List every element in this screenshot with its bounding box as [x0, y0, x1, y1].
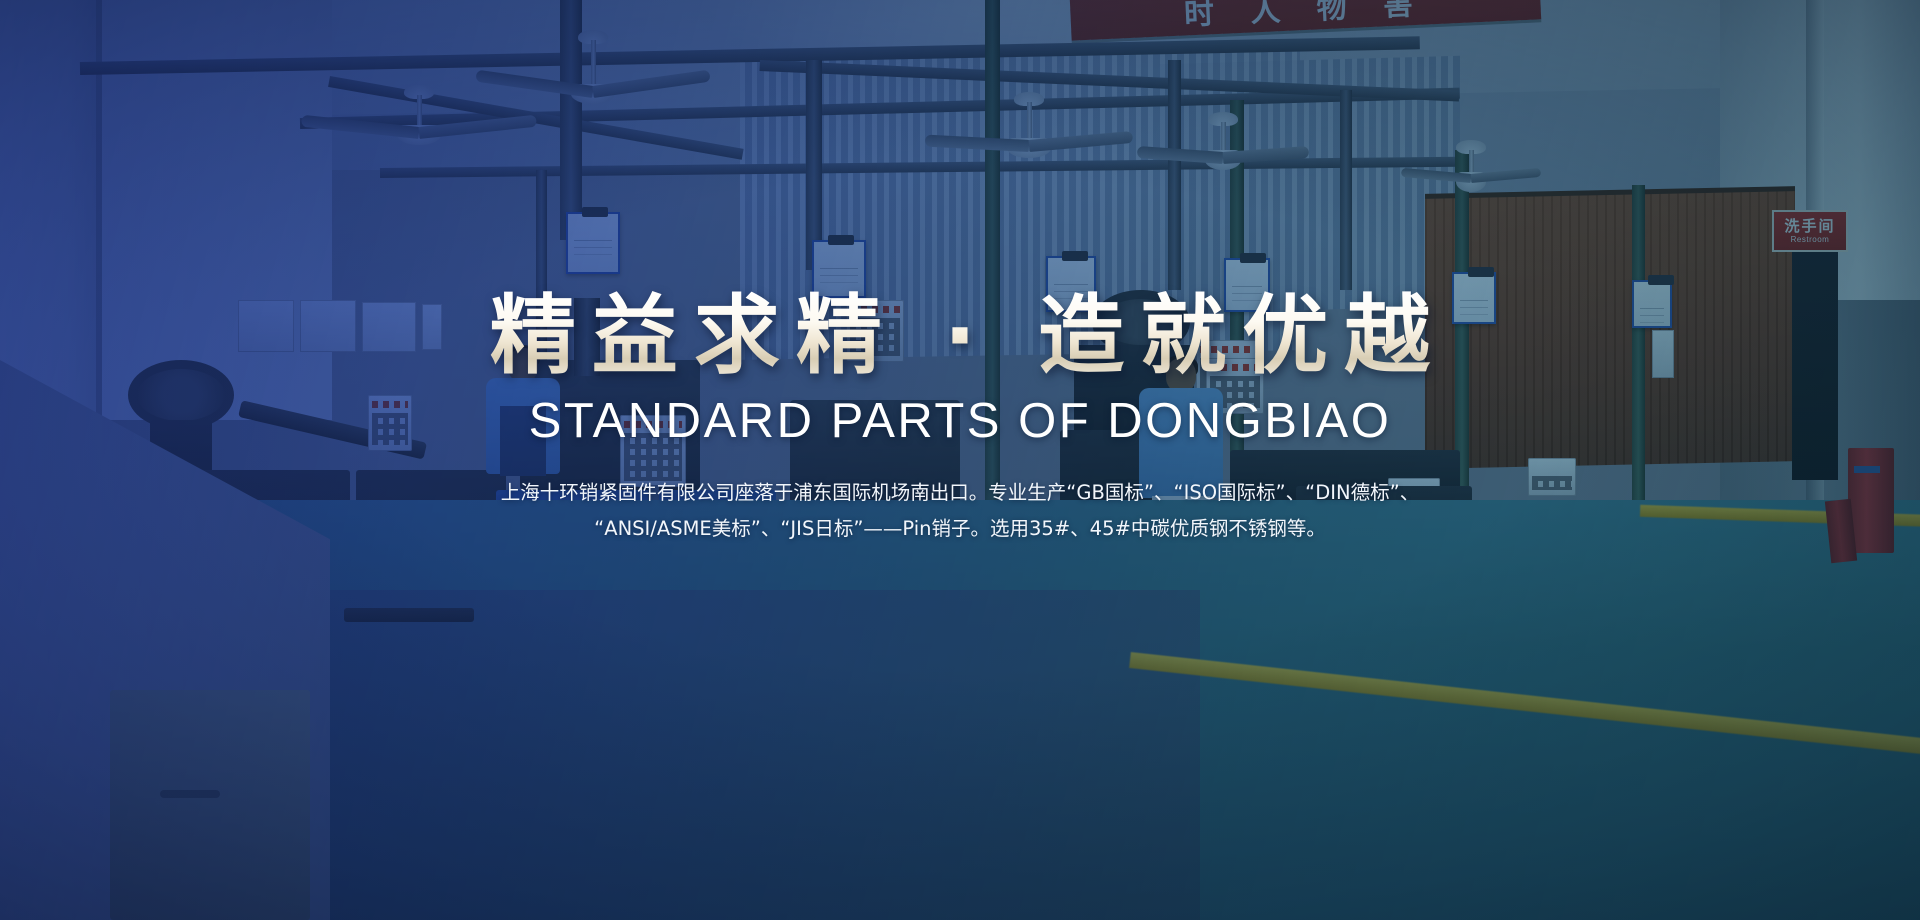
hero-text-block: 精益求精 · 造就优越 STANDARD PARTS OF DONGBIAO 上…: [0, 290, 1920, 547]
hero-banner: 时 人 物 害 洗手间 Restroom: [0, 0, 1920, 920]
hero-subheadline: STANDARD PARTS OF DONGBIAO: [0, 393, 1920, 449]
hero-description: 上海十环销紧固件有限公司座落于浦东国际机场南出口。专业生产“GB国标”、“ISO…: [455, 475, 1465, 547]
hero-headline: 精益求精 · 造就优越: [0, 290, 1920, 383]
